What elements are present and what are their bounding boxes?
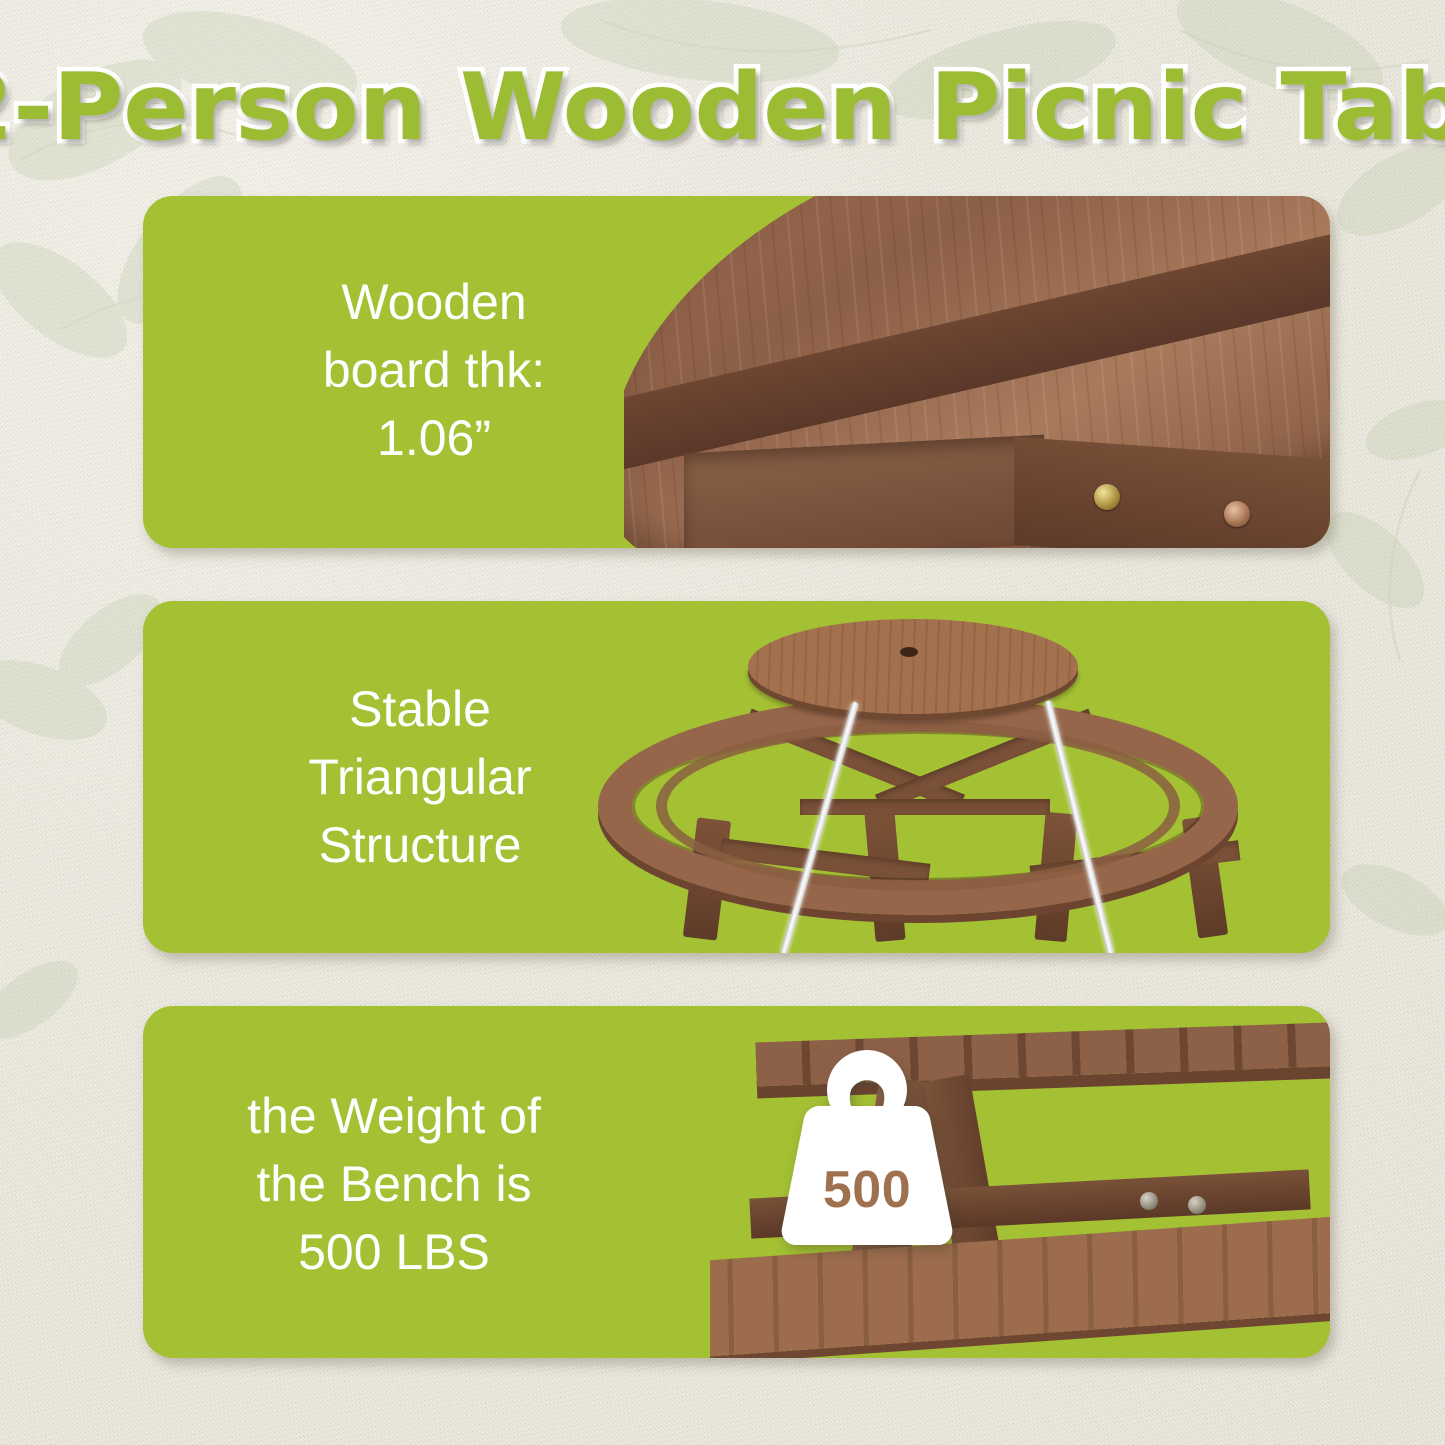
- page-title: 12-Person Wooden Picnic Table: [0, 53, 1445, 161]
- screw-icon: [1224, 501, 1250, 527]
- weight-value: 500: [779, 1160, 955, 1220]
- screw-icon: [1094, 484, 1120, 510]
- bolt-icon: [1188, 1196, 1206, 1214]
- feature-card-triangular-structure: Stable Triangular Structure: [143, 601, 1330, 953]
- photo-full-picnic-table: [570, 601, 1330, 953]
- umbrella-hole: [900, 647, 918, 657]
- card-2-text: Stable Triangular Structure: [185, 675, 655, 879]
- card-1-text: Wooden board thk: 1.06”: [199, 268, 669, 472]
- feature-card-board-thickness: Wooden board thk: 1.06”: [143, 196, 1330, 548]
- infographic-page: 12-Person Wooden Picnic Table Wooden boa…: [0, 0, 1445, 1445]
- feature-card-bench-weight: the Weight of the Bench is 500 LBS: [143, 1006, 1330, 1358]
- weight-badge: 500: [779, 1044, 955, 1254]
- bolt-icon: [1140, 1192, 1158, 1210]
- photo-table-edge-closeup: [624, 196, 1330, 548]
- support-beam-left: [684, 435, 1044, 548]
- card-3-text: the Weight of the Bench is 500 LBS: [159, 1082, 629, 1286]
- page-title-wrapper: 12-Person Wooden Picnic Table: [0, 48, 1445, 166]
- round-table-top: [748, 619, 1078, 714]
- weight-icon: [779, 1044, 955, 1254]
- bench-inner-rail: [656, 721, 1180, 891]
